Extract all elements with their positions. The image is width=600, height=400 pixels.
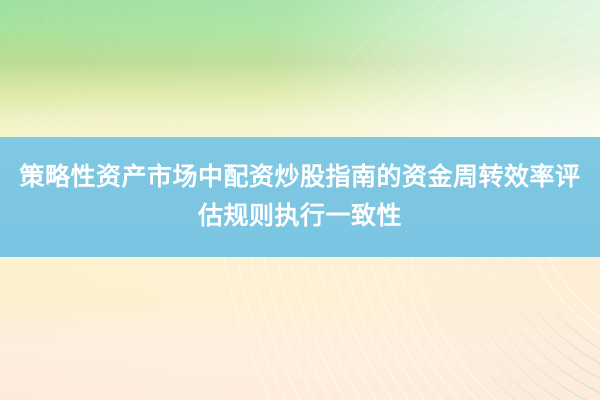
top-gradient-panel xyxy=(0,0,600,137)
bottom-gradient-panel xyxy=(0,257,600,400)
banner-headline: 策略性资产市场中配资炒股指南的资金周转效率评 估规则执行一致性 xyxy=(0,137,600,257)
promo-banner: 策略性资产市场中配资炒股指南的资金周转效率评 估规则执行一致性 xyxy=(0,0,600,400)
headline-line-1: 策略性资产市场中配资炒股指南的资金周转效率评 xyxy=(19,158,580,197)
headline-line-2: 估规则执行一致性 xyxy=(198,197,402,236)
